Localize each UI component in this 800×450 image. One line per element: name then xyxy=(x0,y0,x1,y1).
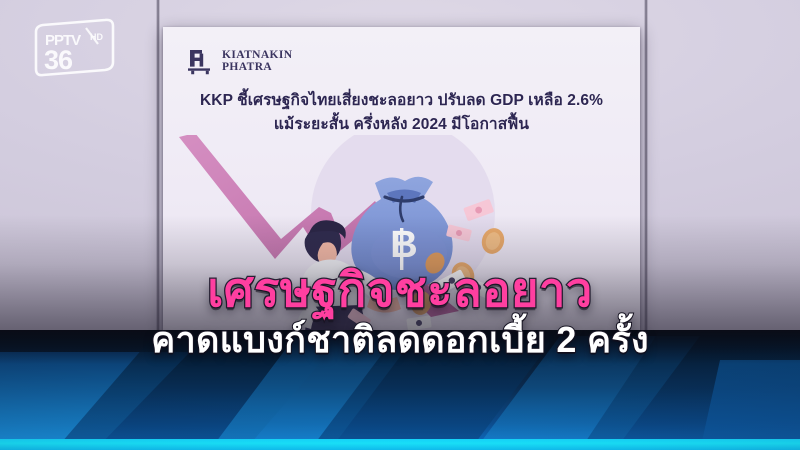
vignette xyxy=(0,0,800,450)
news-graphic-screenshot: KIATNAKIN PHATRA KKP ชี้เศรษฐกิจไทยเสี่ย… xyxy=(0,0,800,450)
